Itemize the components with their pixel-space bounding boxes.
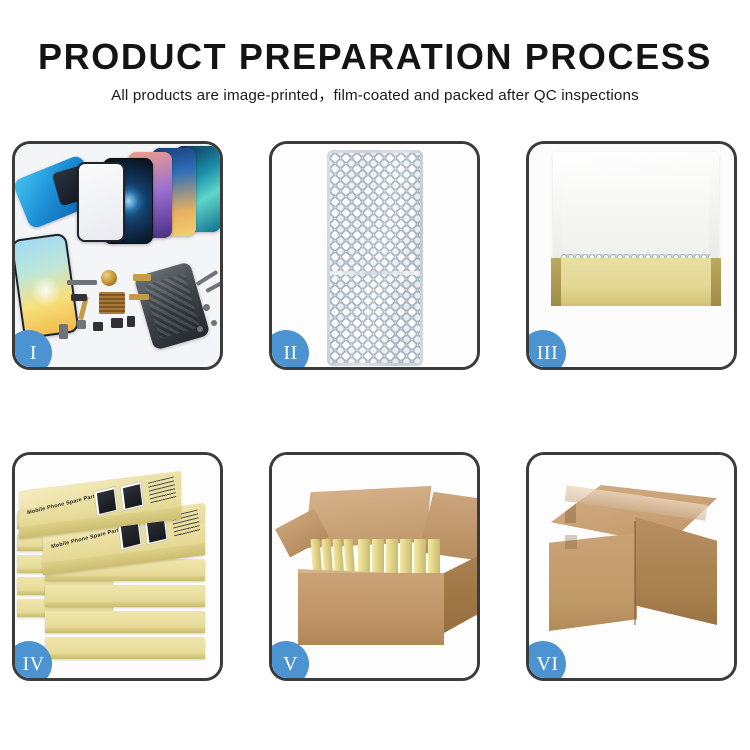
sim-tray-part-icon bbox=[59, 324, 68, 339]
page-subtitle: All products are image-printed，film-coat… bbox=[0, 86, 750, 106]
retail-box-icon bbox=[45, 585, 205, 607]
panel-3-illustration bbox=[529, 144, 734, 367]
spare-part-icon bbox=[111, 318, 123, 328]
process-step-panel-3[interactable]: III bbox=[526, 141, 737, 370]
spare-part-icon bbox=[133, 274, 151, 281]
process-step-grid: I II III bbox=[12, 141, 738, 685]
retail-box-icon bbox=[45, 637, 205, 659]
panel-2-illustration bbox=[272, 144, 477, 367]
spare-part-icon bbox=[127, 316, 135, 327]
panel-5-illustration bbox=[272, 455, 477, 678]
process-step-panel-2[interactable]: II bbox=[269, 141, 480, 370]
bubble-wrap-sleeve-icon bbox=[327, 150, 423, 366]
box-artwork-thumbnail bbox=[119, 481, 144, 512]
product-preparation-infographic: PRODUCT PREPARATION PROCESS All products… bbox=[0, 0, 750, 750]
panel-4-illustration: Mobile Phone Spare Parts Mobile Phone Sp… bbox=[15, 455, 220, 678]
panel-6-illustration bbox=[529, 455, 734, 678]
panel-1-illustration bbox=[15, 144, 220, 367]
screw-part-icon bbox=[197, 326, 203, 332]
carton-corner-fold bbox=[634, 521, 636, 625]
spare-part-icon bbox=[77, 320, 86, 329]
box-artwork-thumbnail bbox=[93, 486, 118, 517]
process-step-panel-1[interactable]: I bbox=[12, 141, 223, 370]
carton-front-face-icon bbox=[298, 573, 444, 645]
flex-cable-part-icon bbox=[129, 294, 149, 300]
sleeve-seam bbox=[331, 271, 419, 275]
screw-part-icon bbox=[203, 304, 210, 311]
kraft-box-base-icon bbox=[551, 258, 721, 306]
retail-box-icon bbox=[45, 611, 205, 633]
spare-part-icon bbox=[93, 322, 103, 331]
glass-panel-icon bbox=[77, 162, 125, 242]
header: PRODUCT PREPARATION PROCESS All products… bbox=[0, 36, 750, 106]
vibration-coil-part-icon bbox=[101, 270, 117, 286]
spare-part-icon bbox=[67, 280, 97, 285]
sealed-carton-front-face-icon bbox=[549, 533, 637, 631]
process-step-panel-5[interactable]: V bbox=[269, 452, 480, 681]
white-box-lid-icon bbox=[553, 152, 719, 266]
page-title: PRODUCT PREPARATION PROCESS bbox=[0, 36, 750, 78]
bubble-pattern-layer bbox=[330, 153, 420, 363]
screw-part-icon bbox=[211, 320, 217, 326]
process-step-panel-6[interactable]: VI bbox=[526, 452, 737, 681]
ic-chip-part-icon bbox=[99, 292, 125, 314]
spare-part-icon bbox=[71, 294, 87, 301]
carton-seam bbox=[565, 535, 577, 549]
process-step-panel-4[interactable]: Mobile Phone Spare Parts Mobile Phone Sp… bbox=[12, 452, 223, 681]
